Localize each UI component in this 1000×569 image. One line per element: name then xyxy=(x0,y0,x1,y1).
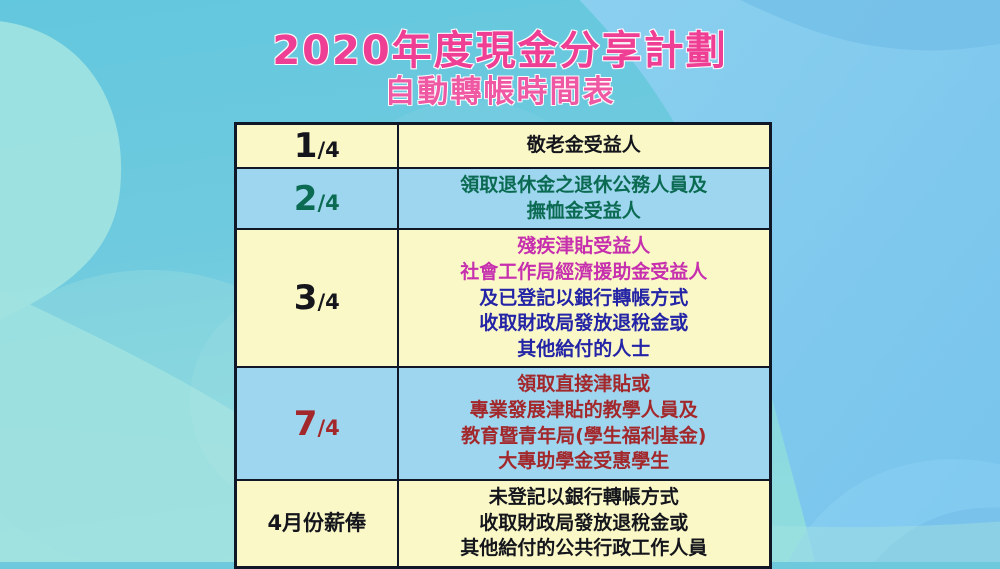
schedule-date-cell: 3/4 xyxy=(236,229,398,367)
schedule-date-cell: 2/4 xyxy=(236,168,398,229)
schedule-description-cell: 領取退休金之退休公務人員及撫恤金受益人 xyxy=(398,168,771,229)
table-row: 1/4敬老金受益人 xyxy=(236,124,771,169)
schedule-description-line: 其他給付的公共行政工作人員 xyxy=(401,536,768,562)
schedule-description-cell: 領取直接津貼或專業發展津貼的教學人員及教育暨青年局(學生福利基金)大專助學金受惠… xyxy=(398,367,771,480)
schedule-description-cell: 敬老金受益人 xyxy=(398,124,771,169)
schedule-description-line: 其他給付的人士 xyxy=(401,337,768,363)
page-subtitle: 自動轉帳時間表 xyxy=(0,76,1000,109)
schedule-description-line: 社會工作局經濟援助金受益人 xyxy=(401,260,768,286)
schedule-description-line: 敬老金受益人 xyxy=(401,133,768,159)
schedule-description-line: 教育暨青年局(學生福利基金) xyxy=(401,424,768,450)
schedule-date-day: 2 xyxy=(294,179,318,219)
table-row: 4月份薪俸未登記以銀行轉帳方式收取財政局發放退稅金或其他給付的公共行政工作人員 xyxy=(236,480,771,567)
schedule-description-line: 殘疾津貼受益人 xyxy=(401,234,768,260)
schedule-date-day: 1 xyxy=(294,126,318,166)
schedule-date-cell: 1/4 xyxy=(236,124,398,169)
schedule-description-line: 收取財政局發放退稅金或 xyxy=(401,311,768,337)
schedule-description-cell: 殘疾津貼受益人社會工作局經濟援助金受益人及已登記以銀行轉帳方式收取財政局發放退稅… xyxy=(398,229,771,367)
schedule-description-line: 領取退休金之退休公務人員及 xyxy=(401,173,768,199)
schedule-description-line: 未登記以銀行轉帳方式 xyxy=(401,485,768,511)
schedule-description-line: 領取直接津貼或 xyxy=(401,372,768,398)
schedule-date-month: /4 xyxy=(317,416,339,440)
schedule-description-line: 及已登記以銀行轉帳方式 xyxy=(401,286,768,312)
schedule-date-cell: 7/4 xyxy=(236,367,398,480)
schedule-date-label: 4月份薪俸 xyxy=(267,511,366,535)
schedule-date-month: /4 xyxy=(317,191,339,215)
schedule-table-body: 1/4敬老金受益人2/4領取退休金之退休公務人員及撫恤金受益人3/4殘疾津貼受益… xyxy=(236,124,771,568)
schedule-description-line: 大專助學金受惠學生 xyxy=(401,449,768,475)
schedule-date-day: 3 xyxy=(294,278,318,318)
schedule-date-month: /4 xyxy=(317,138,339,162)
slide-stage: 2020年度現金分享計劃 自動轉帳時間表 1/4敬老金受益人2/4領取退休金之退… xyxy=(0,0,1000,562)
schedule-description-line: 收取財政局發放退稅金或 xyxy=(401,511,768,537)
page-title: 2020年度現金分享計劃 xyxy=(0,30,1000,72)
table-row: 2/4領取退休金之退休公務人員及撫恤金受益人 xyxy=(236,168,771,229)
schedule-date-month: /4 xyxy=(317,290,339,314)
schedule-description-cell: 未登記以銀行轉帳方式收取財政局發放退稅金或其他給付的公共行政工作人員 xyxy=(398,480,771,567)
table-row: 7/4領取直接津貼或專業發展津貼的教學人員及教育暨青年局(學生福利基金)大專助學… xyxy=(236,367,771,480)
schedule-description-line: 撫恤金受益人 xyxy=(401,199,768,225)
schedule-table: 1/4敬老金受益人2/4領取退休金之退休公務人員及撫恤金受益人3/4殘疾津貼受益… xyxy=(234,122,772,569)
schedule-description-line: 專業發展津貼的教學人員及 xyxy=(401,398,768,424)
title-block: 2020年度現金分享計劃 自動轉帳時間表 xyxy=(0,30,1000,109)
table-row: 3/4殘疾津貼受益人社會工作局經濟援助金受益人及已登記以銀行轉帳方式收取財政局發… xyxy=(236,229,771,367)
schedule-date-day: 7 xyxy=(294,404,318,444)
schedule-date-cell: 4月份薪俸 xyxy=(236,480,398,567)
